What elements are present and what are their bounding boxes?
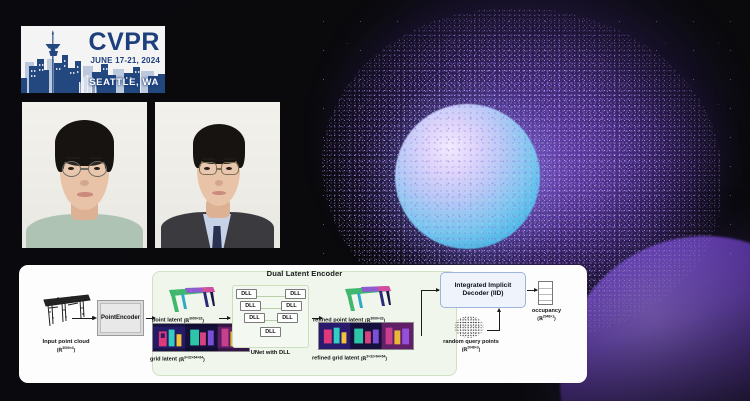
- unet-caption: UNet with DLL: [232, 350, 309, 356]
- unet-dll-block-3: DLL: [240, 301, 261, 311]
- slide-canvas: CVPR JUNE 17-21, 2024 SEATTLE, WA: [0, 0, 750, 401]
- arrow-iid-to-occupancy: [527, 290, 537, 291]
- dual-latent-encoder-title: Dual Latent Encoder: [152, 269, 457, 278]
- photo-mouth: [77, 192, 93, 197]
- photo-glasses-bridge: [217, 168, 221, 170]
- random-query-points-thumbnail: [454, 316, 484, 338]
- cvpr-logo: CVPR JUNE 17-21, 2024 SEATTLE, WA: [21, 26, 165, 93]
- point-encoder-block: Point Encoder: [97, 300, 144, 336]
- unet-dll-block-7: DLL: [260, 327, 281, 337]
- cvpr-title: CVPR: [89, 30, 160, 55]
- input-point-cloud-label-group: Input point cloud (ℝ3000×3): [26, 339, 106, 353]
- refined-grid-latent-label: refined grid latent: [312, 356, 359, 362]
- grid-latent-label-group: grid latent (ℝ3×32×64×64): [150, 355, 205, 363]
- arrow-refined-to-iid: [421, 290, 439, 291]
- occupancy-output-block: [538, 281, 553, 305]
- photo-glasses-bridge: [81, 168, 88, 170]
- photo-nose: [215, 180, 223, 186]
- photo-nose: [80, 180, 89, 186]
- input-point-cloud-label: Input point cloud: [42, 339, 89, 345]
- refined-point-latent-thumbnail: [335, 283, 401, 313]
- iid-line1: Integrated Implicit: [455, 282, 512, 289]
- point-encoder-line2: Encoder: [116, 315, 140, 322]
- arrow-query-to-iid: [499, 309, 500, 331]
- cvpr-wordmark: CVPR JUNE 17-21, 2024: [89, 30, 160, 65]
- cvpr-location: SEATTLE, WA: [89, 77, 159, 88]
- refined-grid-latent-label-group: refined grid latent (ℝ3×32×64×64): [312, 354, 387, 362]
- author-photo-left: [22, 102, 147, 248]
- unet-dll-block-5: DLL: [244, 313, 265, 323]
- arrow-input-to-encoder-line: [72, 318, 95, 319]
- occupancy-label-group: occupancy (ℝ2048×1): [524, 308, 569, 322]
- input-point-cloud-dim: (ℝ3000×3): [26, 346, 106, 354]
- occupancy-dim: (ℝ2048×1): [537, 317, 555, 322]
- grid-latent-dim: (ℝ3×32×64×64): [179, 358, 205, 363]
- photo-brow-right: [223, 158, 236, 160]
- unet-dll-block-4: DLL: [281, 301, 302, 311]
- arrow-latents-to-unet: [219, 318, 230, 319]
- connector-refined-to-iid-vertical: [421, 290, 422, 336]
- point-latent-thumbnail: [157, 284, 225, 314]
- photo-brow-left: [202, 158, 215, 160]
- unet-dll-block-2: DLL: [285, 289, 306, 299]
- refined-grid-latent-thumbnail: [318, 322, 414, 350]
- refined-grid-latent-dim: (ℝ3×32×64×64): [361, 357, 387, 362]
- input-point-cloud-thumbnail: [38, 288, 94, 330]
- point-encoder-line1: Point: [101, 315, 116, 322]
- iid-line2: Decoder (IID): [462, 290, 503, 297]
- point-encoder-label: Point Encoder: [100, 303, 141, 333]
- unet-skip-connection-1: [255, 296, 288, 297]
- author-photo-right: [155, 102, 280, 248]
- random-query-points-dim: (ℝ2048×3): [462, 348, 480, 353]
- grid-latent-label: grid latent: [150, 357, 177, 363]
- unet-dll-block-6: DLL: [277, 313, 298, 323]
- unet-dll-block-1: DLL: [236, 289, 257, 299]
- integrated-implicit-decoder-block: Integrated Implicit Decoder (IID): [440, 272, 526, 308]
- cvpr-dates: JUNE 17-21, 2024: [89, 57, 160, 65]
- random-query-points-label-group: random query points (ℝ2048×3): [434, 339, 508, 353]
